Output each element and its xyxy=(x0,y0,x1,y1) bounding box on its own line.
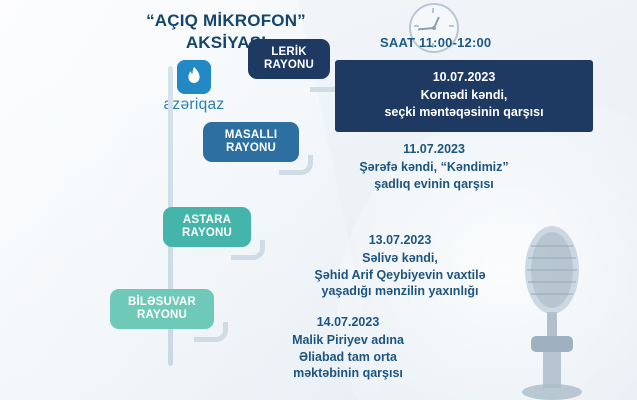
event-place-2-line1: Şərəfə kəndi, “Kəndimiz” xyxy=(300,159,568,176)
event-card-4: 14.07.2023 Malik Piriyev adına Əliabad t… xyxy=(212,315,484,382)
event-date-4: 14.07.2023 xyxy=(212,315,484,329)
region-badge-4-line1: BİLƏSUVAR xyxy=(128,296,196,308)
brand-logo-text: azəriqaz xyxy=(128,96,260,114)
region-badge-2-line1: MASALLI xyxy=(225,129,278,141)
region-badge-3-line2: RAYONU xyxy=(173,227,241,240)
poster-canvas: “AÇIQ MİKROFON” AKSİYASI azəriqaz SAAT 1… xyxy=(0,0,637,400)
region-badge-4-line2: RAYONU xyxy=(120,309,204,322)
event-card-3: 13.07.2023 Səlivə kəndi, Şəhid Arif Qeyb… xyxy=(250,233,550,300)
region-badge-1-line1: LERİK xyxy=(271,46,307,58)
event-place-2-line2: şadlıq evinin qarşısı xyxy=(300,176,568,193)
event-card-1: 10.07.2023 Kornədi kəndi, seçki məntəqəs… xyxy=(335,60,593,132)
event-place-1-line1: Kornədi kəndi, xyxy=(343,87,585,104)
region-badge-2-line2: RAYONU xyxy=(213,142,289,155)
event-date-2: 11.07.2023 xyxy=(300,142,568,156)
event-place-3: Səlivə kəndi, Şəhid Arif Qeybiyevin vaxt… xyxy=(250,250,550,300)
event-date-3: 13.07.2023 xyxy=(250,233,550,247)
event-place-1: Kornədi kəndi, seçki məntəqəsinin qarşıs… xyxy=(343,87,585,120)
event-place-4: Malik Piriyev adına Əliabad tam orta mək… xyxy=(212,332,484,382)
event-place-4-line3: məktəbinin qarşısı xyxy=(212,365,484,382)
event-place-1-line2: seçki məntəqəsinin qarşısı xyxy=(343,104,585,121)
region-badge-3-line1: ASTARA xyxy=(183,214,231,226)
region-badge-1-line2: RAYONU xyxy=(258,59,320,72)
event-place-3-line2: Şəhid Arif Qeybiyevin vaxtilə xyxy=(250,267,550,284)
event-place-4-line2: Əliabad tam orta xyxy=(212,349,484,366)
event-place-3-line1: Səlivə kəndi, xyxy=(250,250,550,267)
event-place-4-line1: Malik Piriyev adına xyxy=(212,332,484,349)
headline-line-1: “AÇIQ MİKROFON” xyxy=(146,11,306,30)
flame-icon xyxy=(177,60,211,94)
event-card-2: 11.07.2023 Şərəfə kəndi, “Kəndimiz” şadl… xyxy=(300,142,568,192)
event-place-2: Şərəfə kəndi, “Kəndimiz” şadlıq evinin q… xyxy=(300,159,568,192)
event-place-3-line3: yaşadığı mənzilin yaxınlığı xyxy=(250,283,550,300)
time-label: SAAT 11:00-12:00 xyxy=(380,35,491,50)
event-date-1: 10.07.2023 xyxy=(343,70,585,84)
brand-logo: azəriqaz xyxy=(128,60,260,114)
